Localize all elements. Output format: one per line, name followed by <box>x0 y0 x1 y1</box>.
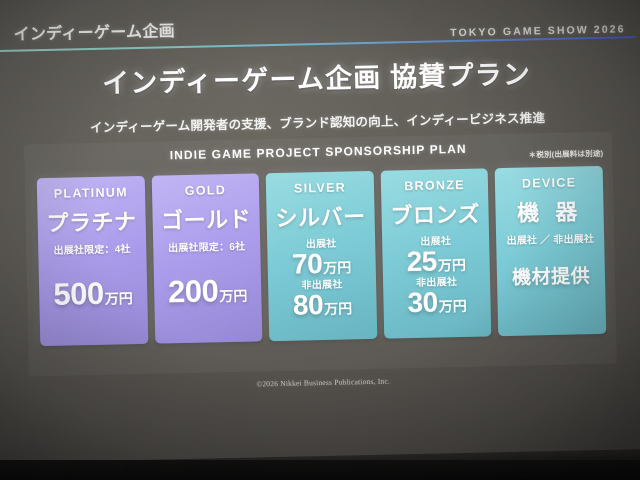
section-title: インディーゲーム企画 <box>13 17 175 45</box>
plan-price2-unit: 万円 <box>324 301 352 316</box>
plan-price-block-exhibitor: 出展社 25 万円 <box>382 235 490 276</box>
plan-limit: 出展社 ／ 非出展社 <box>496 230 604 247</box>
plan-price2-row: 30 万円 <box>383 287 491 317</box>
plan-card-row: PLATINUM プラチナ 出展社限定：4社 500 万円 GOLD <box>37 166 607 346</box>
room-foreground <box>0 460 640 480</box>
plan-price-row: 70 万円 <box>268 249 376 279</box>
plan-card-gold[interactable]: GOLD ゴールド 出展社限定：6社 200 万円 <box>151 173 262 343</box>
presentation-photo: インディーゲーム企画 TOKYO GAME SHOW 2026 インディーゲーム… <box>0 0 640 480</box>
plan-name-jp: プラチナ <box>37 204 145 238</box>
plan-price-number: 25 <box>406 248 437 277</box>
plan-price-unit: 万円 <box>438 258 466 273</box>
plan-price-row: 25 万円 <box>382 246 490 276</box>
plan-price-block-exhibitor: 出展社 70 万円 <box>267 238 375 279</box>
plan-name-en: DEVICE <box>495 175 603 191</box>
plan-name-en: SILVER <box>266 180 374 196</box>
plan-limit: 出展社限定：4社 <box>38 240 146 257</box>
plan-name-jp: 機 器 <box>496 194 604 228</box>
plan-price-unit: 万円 <box>219 289 247 304</box>
plan-price2-row: 80 万円 <box>268 290 376 320</box>
plan-limit: 出展社限定：6社 <box>153 237 261 254</box>
plan-name-en: PLATINUM <box>37 185 145 201</box>
plan-price2-number: 30 <box>407 288 438 317</box>
plan-price-text: 機材提供 <box>497 261 605 290</box>
plan-name-jp: シルバー <box>266 199 374 233</box>
plan-card-silver[interactable]: SILVER シルバー 出展社 70 万円 非出展社 8 <box>266 171 377 341</box>
plan-price-block: 200 万円 <box>153 274 261 307</box>
plan-price-number: 500 <box>53 278 104 310</box>
plan-card-platinum[interactable]: PLATINUM プラチナ 出展社限定：4社 500 万円 <box>37 176 148 346</box>
plan-price-block-non-exhibitor: 非出展社 80 万円 <box>268 279 376 320</box>
projection-screen: インディーゲーム企画 TOKYO GAME SHOW 2026 インディーゲーム… <box>0 0 640 480</box>
plan-price-number: 70 <box>292 250 323 279</box>
plan-price-block: 機材提供 <box>497 261 605 290</box>
plan-price-number: 200 <box>168 275 219 307</box>
plan-card-device[interactable]: DEVICE 機 器 出展社 ／ 非出展社 機材提供 <box>495 166 606 336</box>
page-title: インディーゲーム企画 協賛プラン <box>0 50 637 103</box>
sponsorship-panel: INDIE GAME PROJECT SPONSORSHIP PLAN ＊税別(… <box>24 132 617 377</box>
plan-price-unit: 万円 <box>105 291 133 306</box>
plan-price2-number: 80 <box>293 291 324 320</box>
plan-name-en: GOLD <box>151 182 259 198</box>
plan-price-block-non-exhibitor: 非出展社 30 万円 <box>383 276 491 317</box>
plan-price-unit: 万円 <box>323 260 351 275</box>
plan-name-jp: ブロンズ <box>381 196 489 230</box>
slide-header: インディーゲーム企画 TOKYO GAME SHOW 2026 <box>0 7 636 53</box>
plan-price2-unit: 万円 <box>439 299 467 314</box>
plan-price-block: 500 万円 <box>39 277 147 310</box>
plan-price-row: 500 万円 <box>39 277 147 310</box>
plan-price-row: 200 万円 <box>153 274 261 307</box>
tax-note: ＊税別(出展料は別途) <box>529 148 604 161</box>
panel-heading: INDIE GAME PROJECT SPONSORSHIP PLAN <box>24 139 612 166</box>
slide-content: インディーゲーム企画 TOKYO GAME SHOW 2026 インディーゲーム… <box>0 0 640 469</box>
plan-card-bronze[interactable]: BRONZE ブロンズ 出展社 25 万円 非出展社 3 <box>380 168 491 338</box>
plan-name-jp: ゴールド <box>152 201 260 235</box>
plan-name-en: BRONZE <box>381 177 489 193</box>
